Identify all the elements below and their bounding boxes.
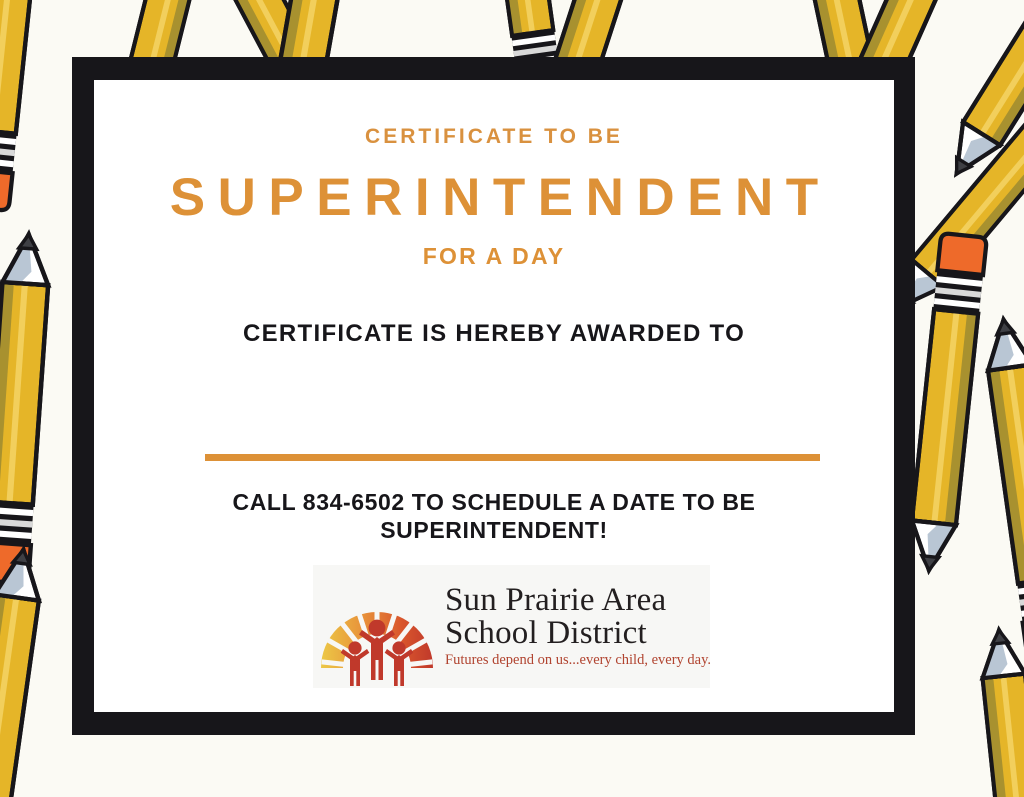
certificate-poster: CERTIFICATE TO BE SUPERINTENDENT FOR A D… [0,0,1024,797]
district-logo-wordmark: Sun Prairie Area School District Futures… [441,584,711,669]
call-to-action-text: CALL 834-6502 TO SCHEDULE A DATE TO BE S… [154,488,834,544]
logo-tagline: Futures depend on us...every child, ever… [445,652,711,669]
district-logo: Sun Prairie Area School District Futures… [313,565,710,688]
logo-line-2: School District [445,617,711,649]
sunburst-logo-icon [313,568,441,686]
logo-line-1: Sun Prairie Area [445,584,711,616]
certificate-title: SUPERINTENDENT [94,167,894,228]
certificate-eyebrow: CERTIFICATE TO BE [94,125,894,149]
certificate-subtitle: FOR A DAY [94,243,894,270]
certificate-frame: CERTIFICATE TO BE SUPERINTENDENT FOR A D… [72,57,915,735]
signature-divider-line [205,454,820,461]
certificate-paper: CERTIFICATE TO BE SUPERINTENDENT FOR A D… [94,80,894,712]
awarded-to-label: CERTIFICATE IS HEREBY AWARDED TO [94,320,894,348]
